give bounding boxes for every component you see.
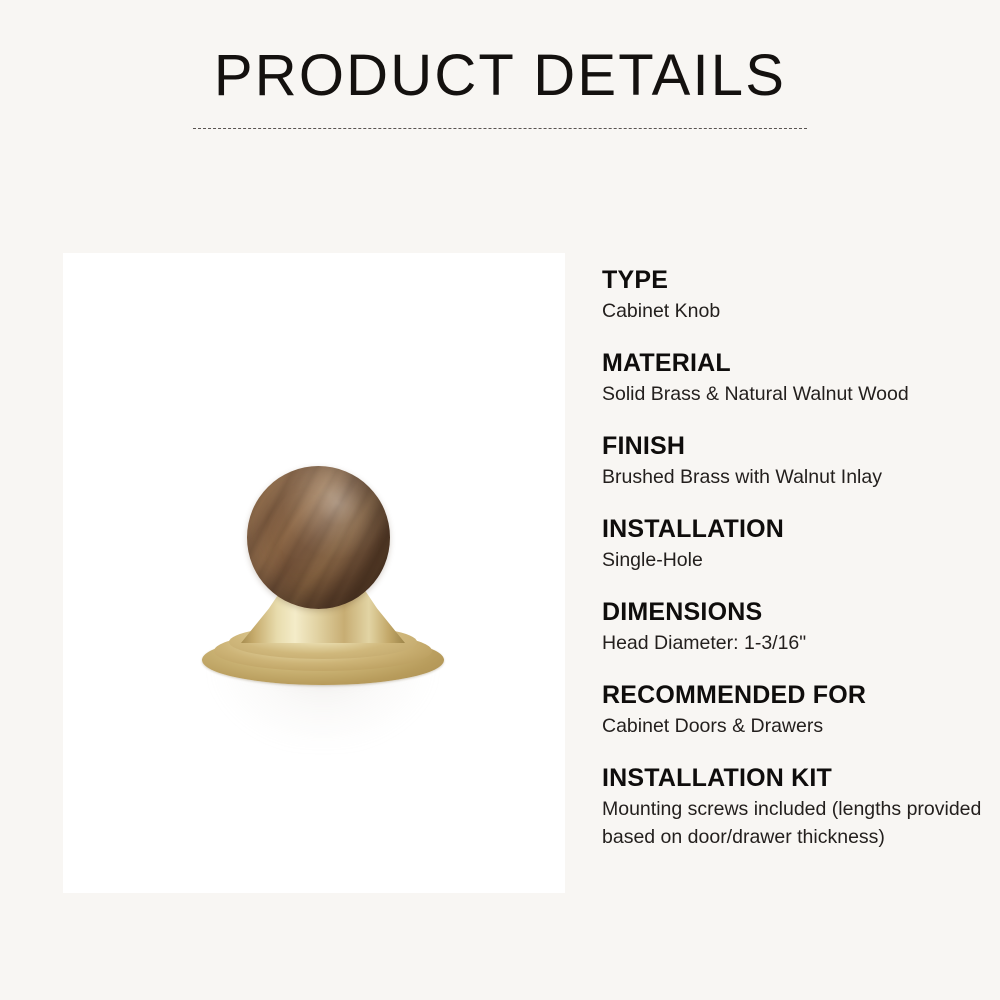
product-spec-list: TYPE Cabinet Knob MATERIAL Solid Brass &… [602,266,994,851]
spec-label: INSTALLATION KIT [602,764,994,793]
spec-item-recommended-for: RECOMMENDED FOR Cabinet Doors & Drawers [602,681,994,741]
spec-item-installation-kit: INSTALLATION KIT Mounting screws include… [602,764,994,852]
spec-item-dimensions: DIMENSIONS Head Diameter: 1-3/16" [602,598,994,658]
product-photo [63,253,565,893]
page-header: PRODUCT DETAILS [0,0,1000,170]
spec-item-material: MATERIAL Solid Brass & Natural Walnut Wo… [602,349,994,409]
spec-value: Mounting screws included (lengths provid… [602,796,994,851]
page-title: PRODUCT DETAILS [0,47,1000,105]
spec-label: INSTALLATION [602,515,994,544]
sphere-highlight [247,466,390,609]
spec-value: Cabinet Doors & Drawers [602,713,994,741]
spec-value: Cabinet Knob [602,298,994,326]
spec-item-installation: INSTALLATION Single-Hole [602,515,994,575]
walnut-sphere [247,466,390,609]
spec-value: Solid Brass & Natural Walnut Wood [602,381,994,409]
spec-item-type: TYPE Cabinet Knob [602,266,994,326]
spec-value: Head Diameter: 1-3/16" [602,630,994,658]
spec-label: FINISH [602,432,994,461]
spec-label: TYPE [602,266,994,295]
product-image-panel [63,253,565,893]
spec-item-finish: FINISH Brushed Brass with Walnut Inlay [602,432,994,492]
spec-label: MATERIAL [602,349,994,378]
title-divider [193,128,807,129]
spec-label: DIMENSIONS [602,598,994,627]
spec-value: Single-Hole [602,547,994,575]
spec-label: RECOMMENDED FOR [602,681,994,710]
spec-value: Brushed Brass with Walnut Inlay [602,464,994,492]
